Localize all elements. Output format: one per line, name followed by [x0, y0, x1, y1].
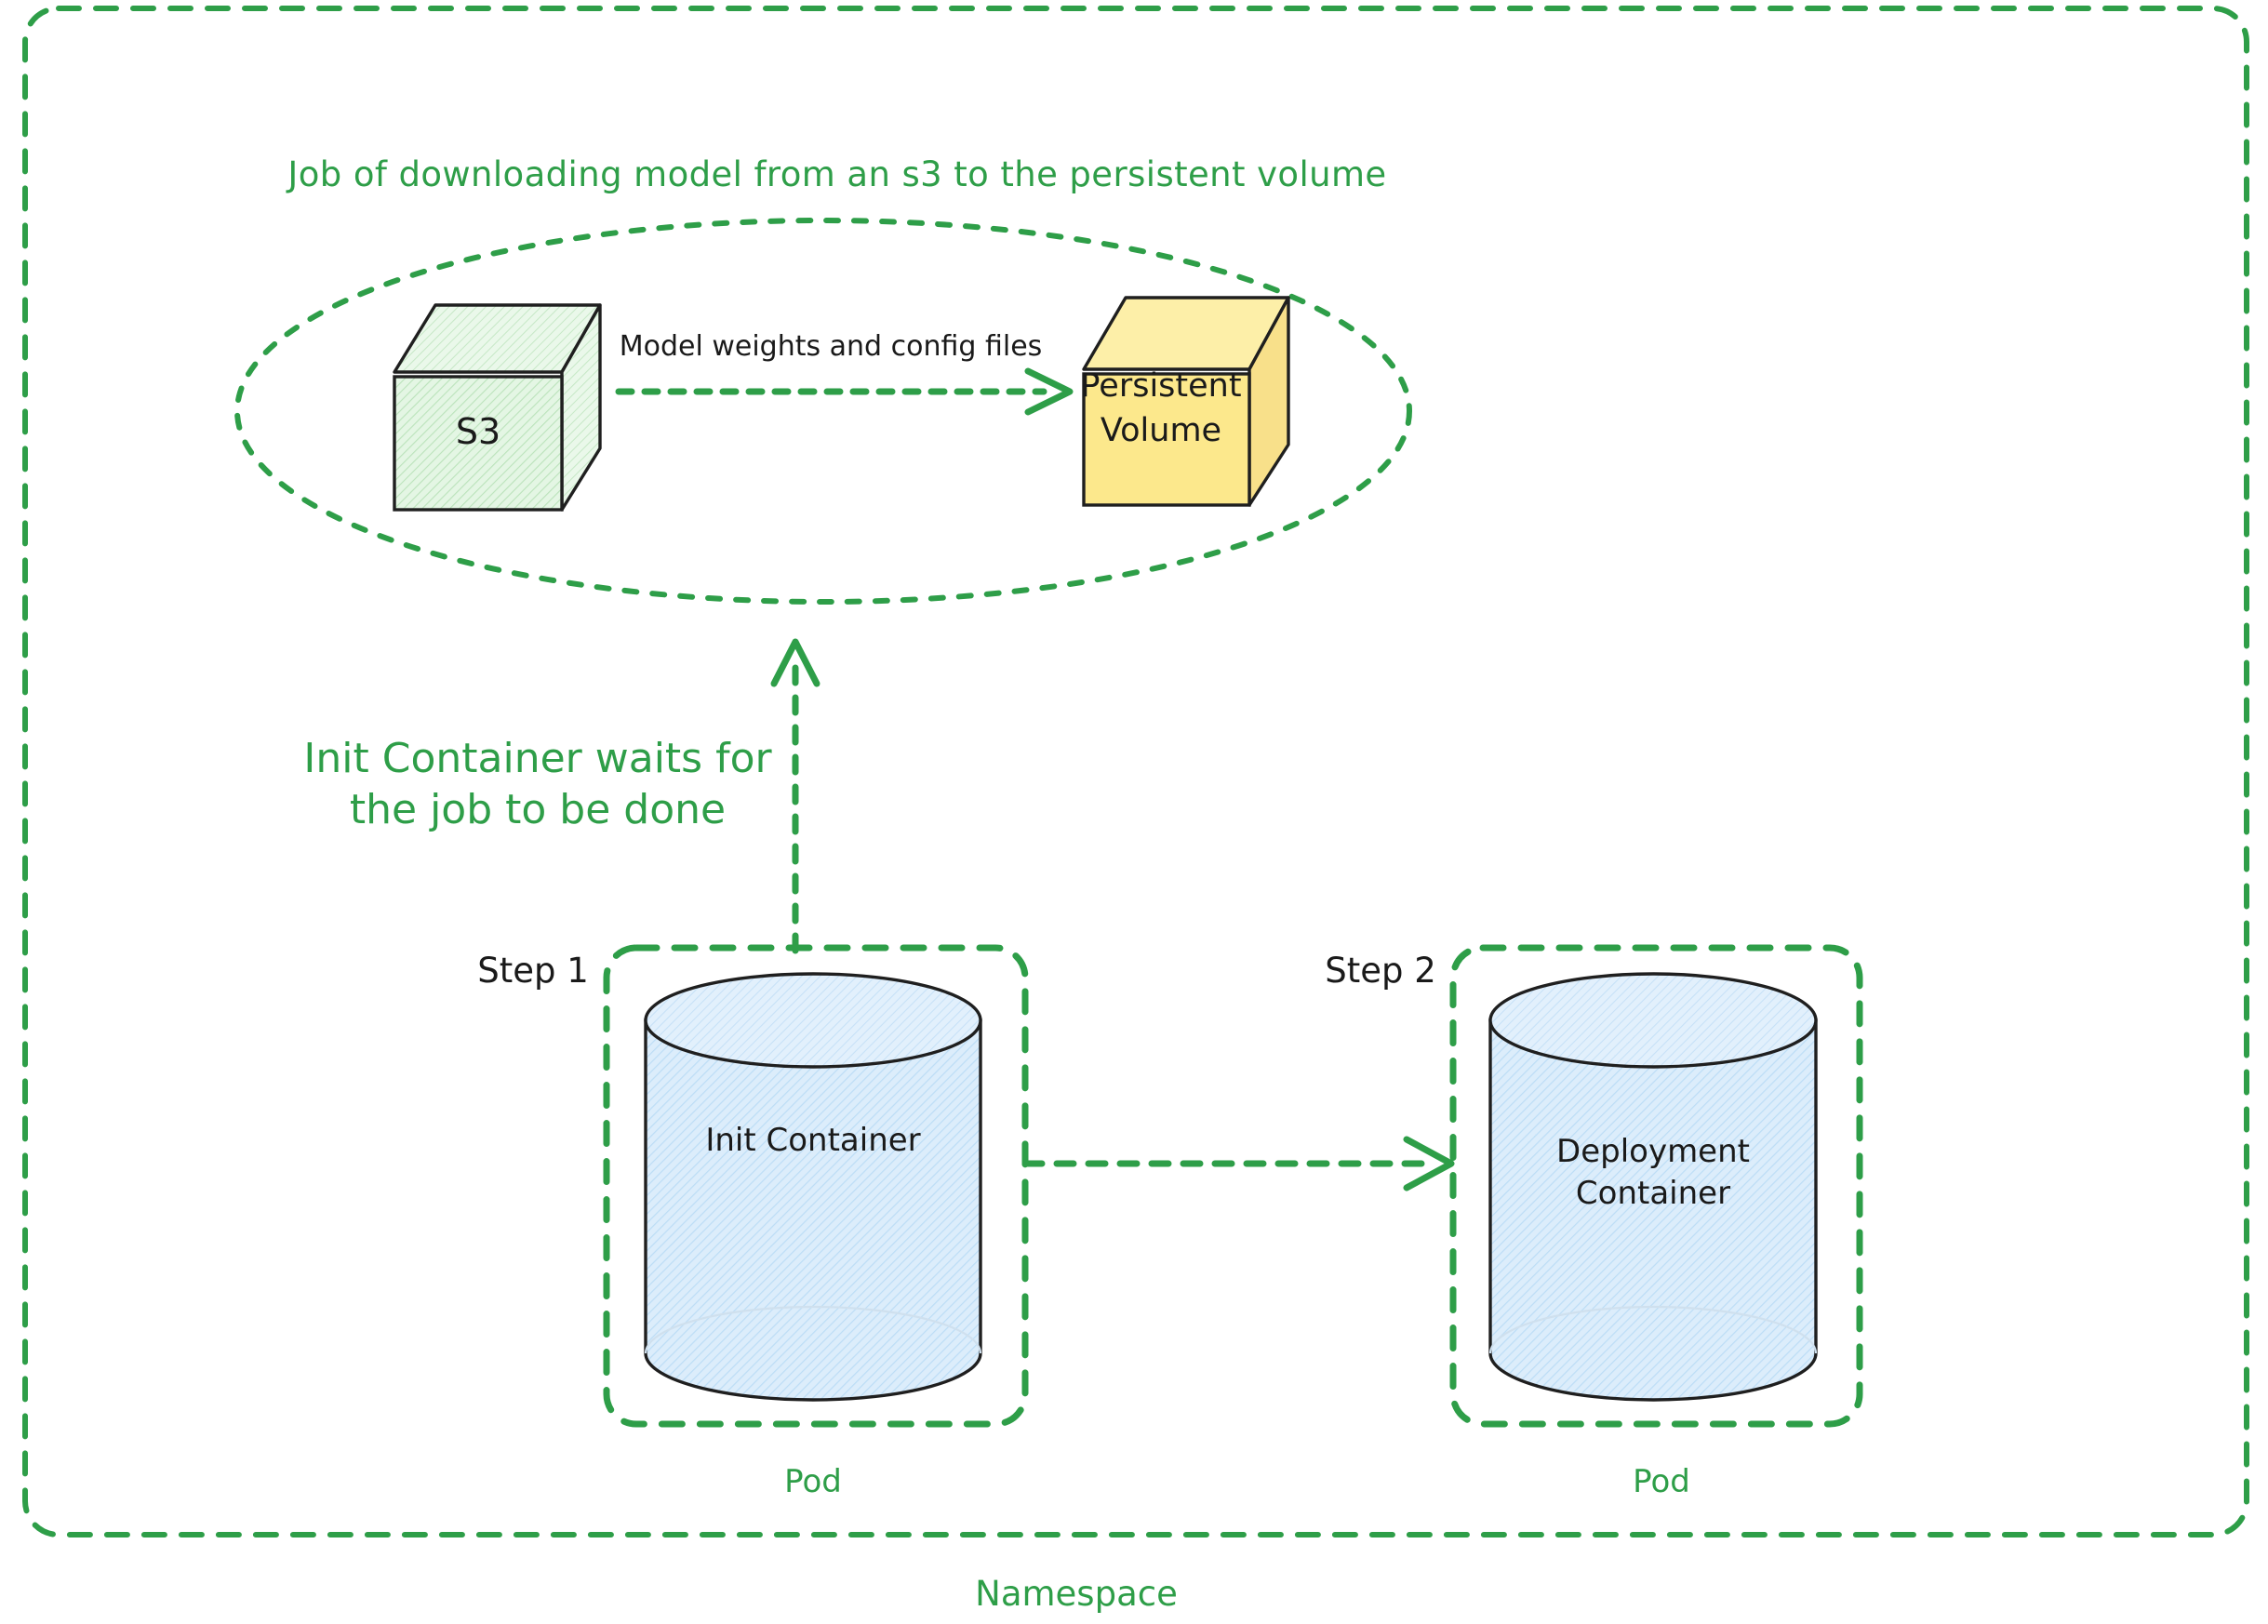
diagram-vector-layer: [0, 0, 2268, 1624]
s3-cube-label: S3: [456, 411, 500, 453]
init-container-cylinder: [646, 974, 981, 1400]
model-weights-arrow: [619, 371, 1070, 412]
pod-1-label: Pod: [784, 1463, 842, 1500]
deployment-container-label-line2: Container: [1576, 1175, 1730, 1212]
wait-edge-label-line1: Init Container waits for: [303, 735, 771, 783]
pod-1-step-label: Step 1: [477, 951, 589, 992]
persistent-volume-label-line1: Persistent: [1080, 367, 1241, 406]
init-container-label: Init Container: [705, 1122, 920, 1159]
pod-2-step-label: Step 2: [1325, 951, 1436, 992]
deployment-container-label-line1: Deployment: [1556, 1133, 1750, 1170]
namespace-label: Namespace: [975, 1574, 1178, 1615]
pod-2-label: Pod: [1633, 1463, 1690, 1500]
job-group-caption: Job of downloading model from an s3 to t…: [287, 154, 1386, 195]
pod-to-pod-arrow: [1025, 1139, 1451, 1188]
diagram-canvas: Job of downloading model from an s3 to t…: [0, 0, 2268, 1624]
s3-cube: [394, 305, 600, 510]
model-weights-edge-label: Model weights and config files: [620, 330, 1043, 363]
wait-edge-label-line2: the job to be done: [350, 786, 726, 834]
persistent-volume-label-line2: Volume: [1101, 412, 1221, 450]
init-container-wait-arrow: [774, 642, 817, 951]
